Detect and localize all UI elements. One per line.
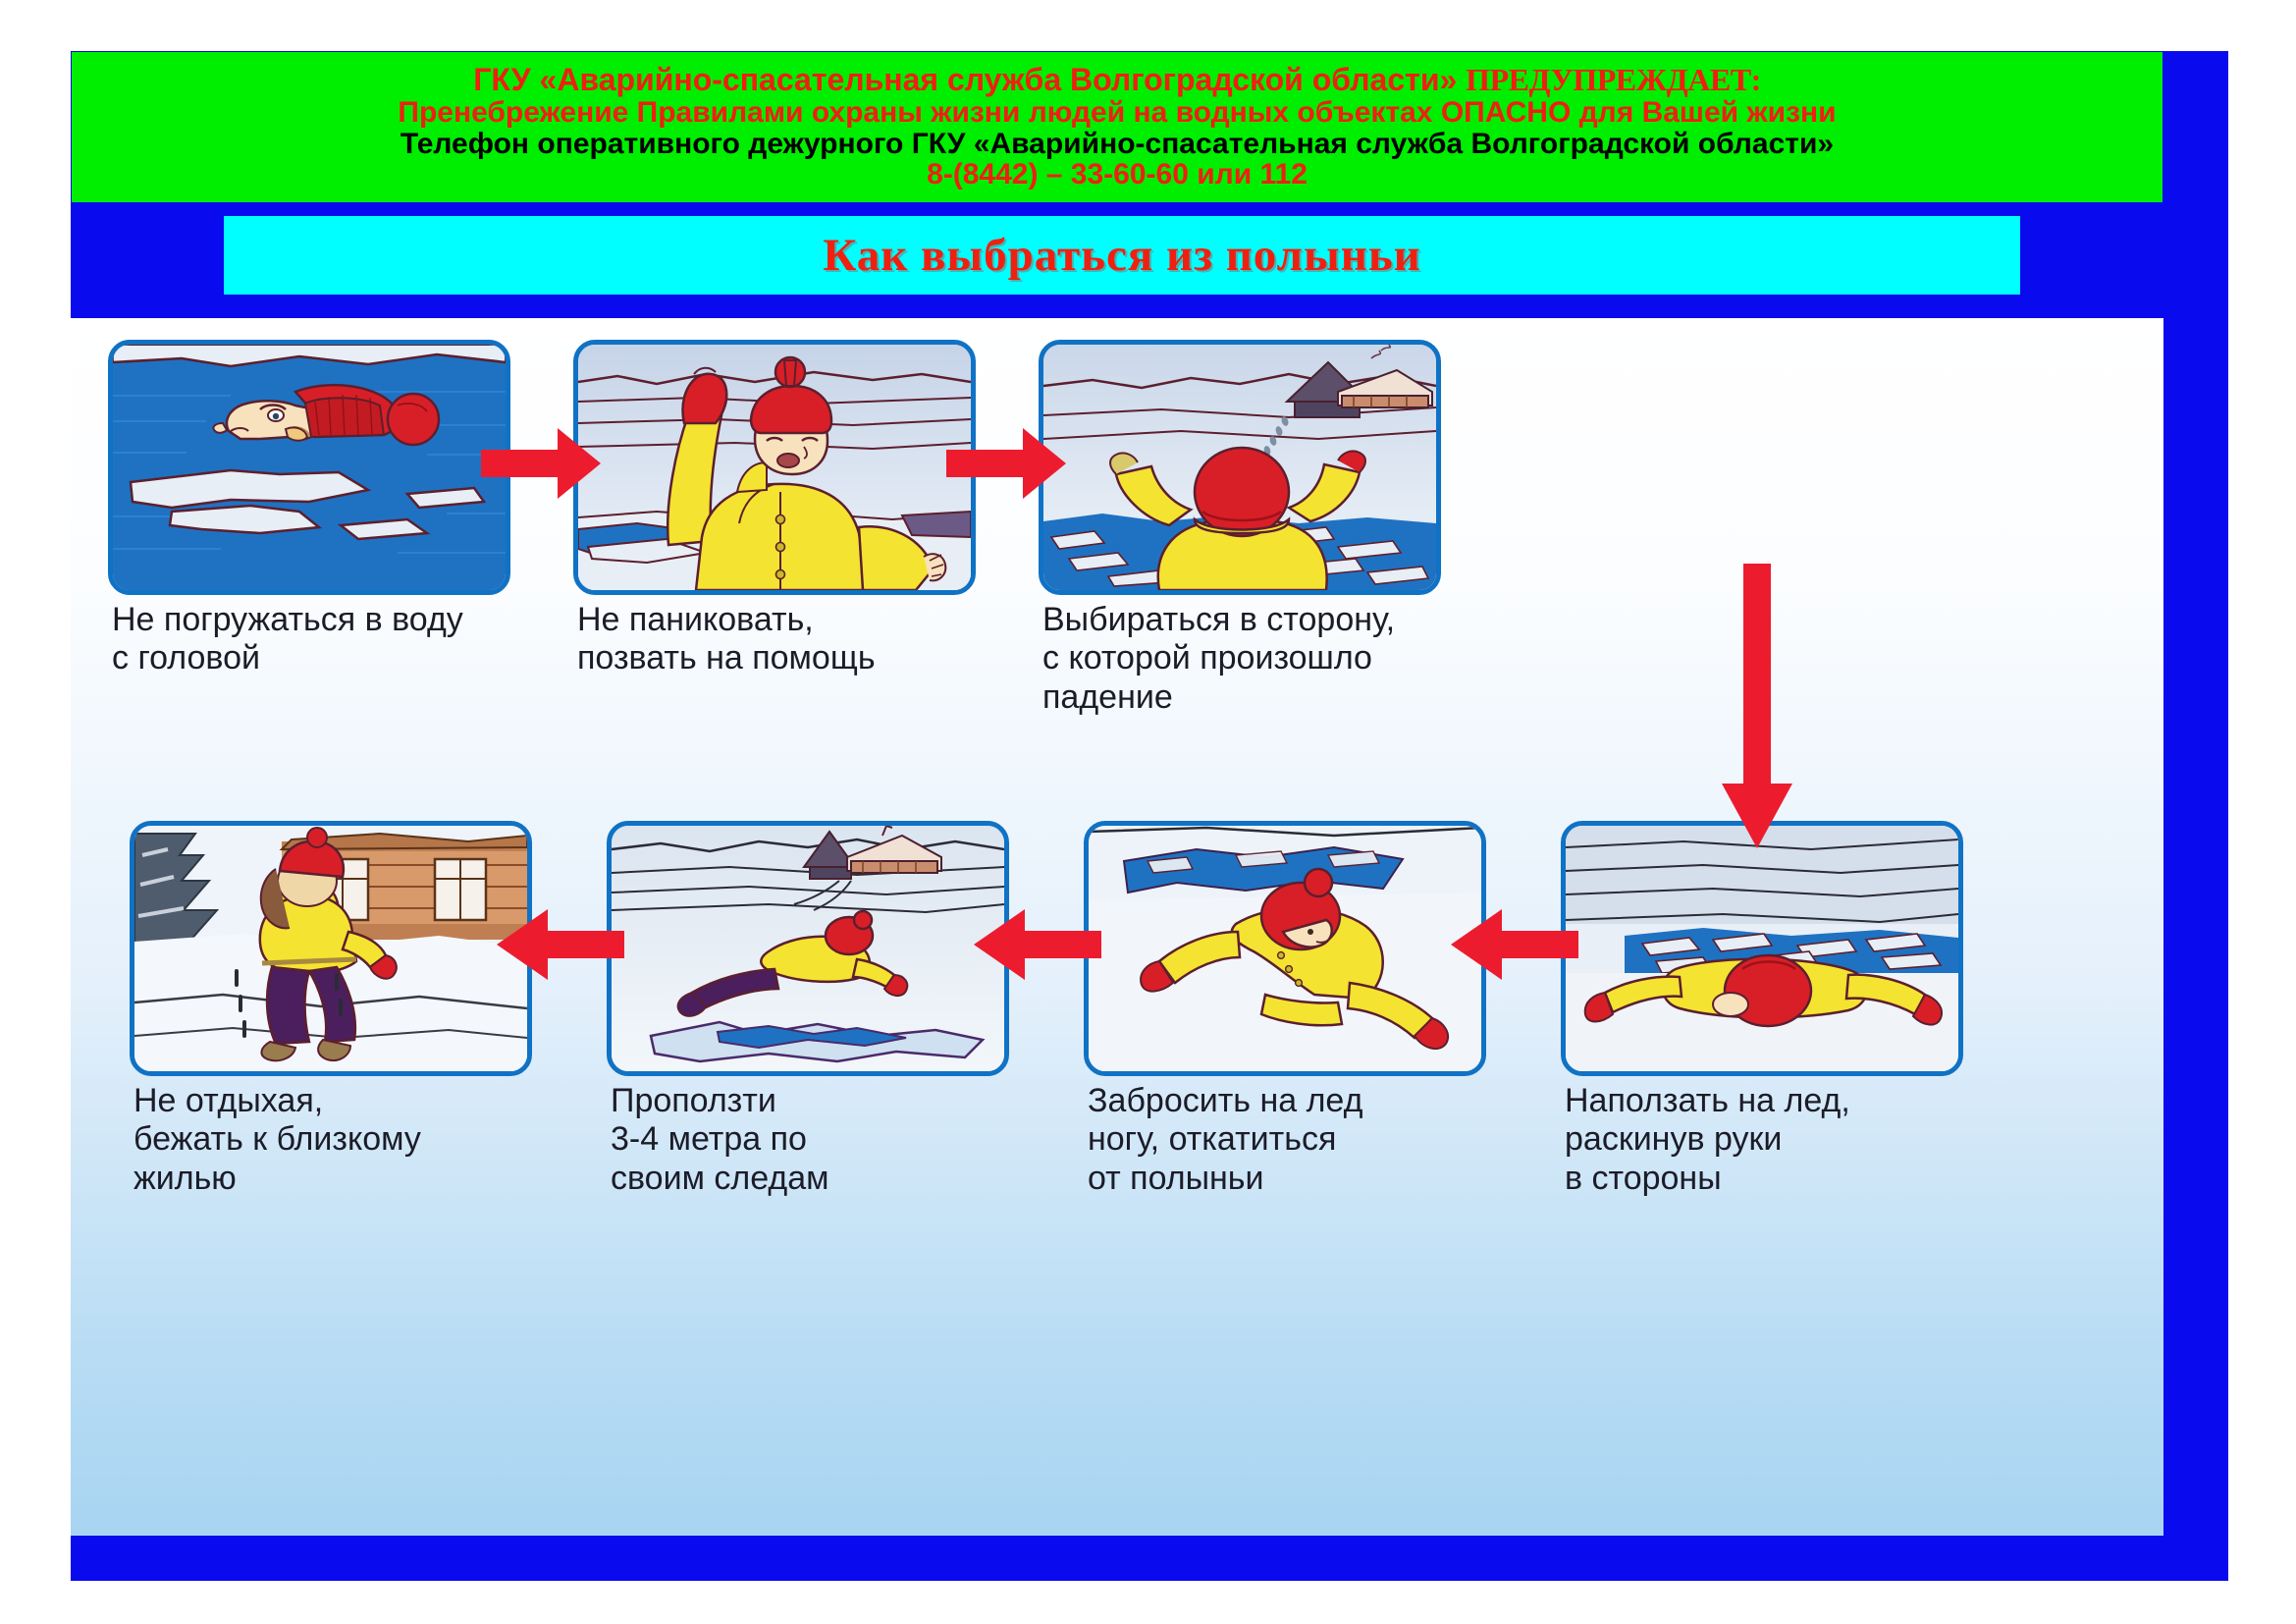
step-5-image — [1084, 821, 1486, 1076]
illustration-back-view-choose-side — [1043, 345, 1436, 590]
illustration-crawl-along-tracks — [612, 826, 1004, 1071]
step-6-caption: Проползти 3-4 метра по своим следам — [611, 1082, 1042, 1198]
banner-line-3: Телефон оперативного дежурного ГКУ «Авар… — [400, 129, 1834, 160]
banner-phone-number: 8-(8442) – 33-60-60 или 112 — [927, 159, 1308, 190]
step-2-image — [573, 340, 976, 595]
step-4-caption: Наползать на лед, раскинув руки в сторон… — [1565, 1082, 1997, 1198]
illustration-crawl-onto-ice-arms-wide — [1566, 826, 1958, 1071]
arrow-step2-to-step3 — [946, 424, 1066, 503]
poster-title-bar: Как выбраться из полыньи — [224, 216, 2020, 295]
illustration-waving-for-help — [578, 345, 971, 590]
steps-content-area: Не погружаться в воду с головой — [71, 318, 2163, 1536]
poster-frame: ГКУ «Аварийно-спасательная служба Волгог… — [71, 51, 2228, 1581]
step-3-image — [1039, 340, 1441, 595]
banner-line-1: ГКУ «Аварийно-спасательная служба Волгог… — [473, 64, 1760, 97]
step-6-image — [607, 821, 1009, 1076]
step-2-caption: Не паниковать, позвать на помощь — [577, 601, 999, 678]
step-4-image — [1561, 821, 1963, 1076]
step-7-image — [130, 821, 532, 1076]
page-title: Как выбраться из полыньи — [823, 229, 1421, 282]
illustration-leg-onto-ice-roll-away — [1089, 826, 1481, 1071]
arrow-step1-to-step2 — [481, 424, 601, 503]
illustration-run-to-houses — [134, 826, 527, 1071]
arrow-step4-to-step5 — [1451, 905, 1578, 984]
warning-banner: ГКУ «Аварийно-спасательная служба Волгог… — [71, 51, 2163, 203]
step-7-caption: Не отдыхая, бежать к близкому жилью — [133, 1082, 565, 1198]
arrow-step3-to-step4 — [1718, 564, 1796, 848]
banner-line-1-emphasis: ПРЕДУПРЕЖДАЕТ: — [1466, 62, 1761, 97]
step-1-caption: Не погружаться в воду с головой — [112, 601, 534, 678]
banner-line-2: Пренебрежение Правилами охраны жизни люд… — [398, 97, 1836, 129]
illustration-head-in-water — [113, 345, 506, 590]
arrow-step5-to-step6 — [974, 905, 1101, 984]
arrow-step6-to-step7 — [497, 905, 624, 984]
step-1-image — [108, 340, 510, 595]
step-5-caption: Забросить на лед ногу, откатиться от пол… — [1088, 1082, 1520, 1198]
banner-line-1-main: ГКУ «Аварийно-спасательная служба Волгог… — [473, 62, 1457, 97]
step-3-caption: Выбираться в сторону, с которой произошл… — [1042, 601, 1474, 717]
